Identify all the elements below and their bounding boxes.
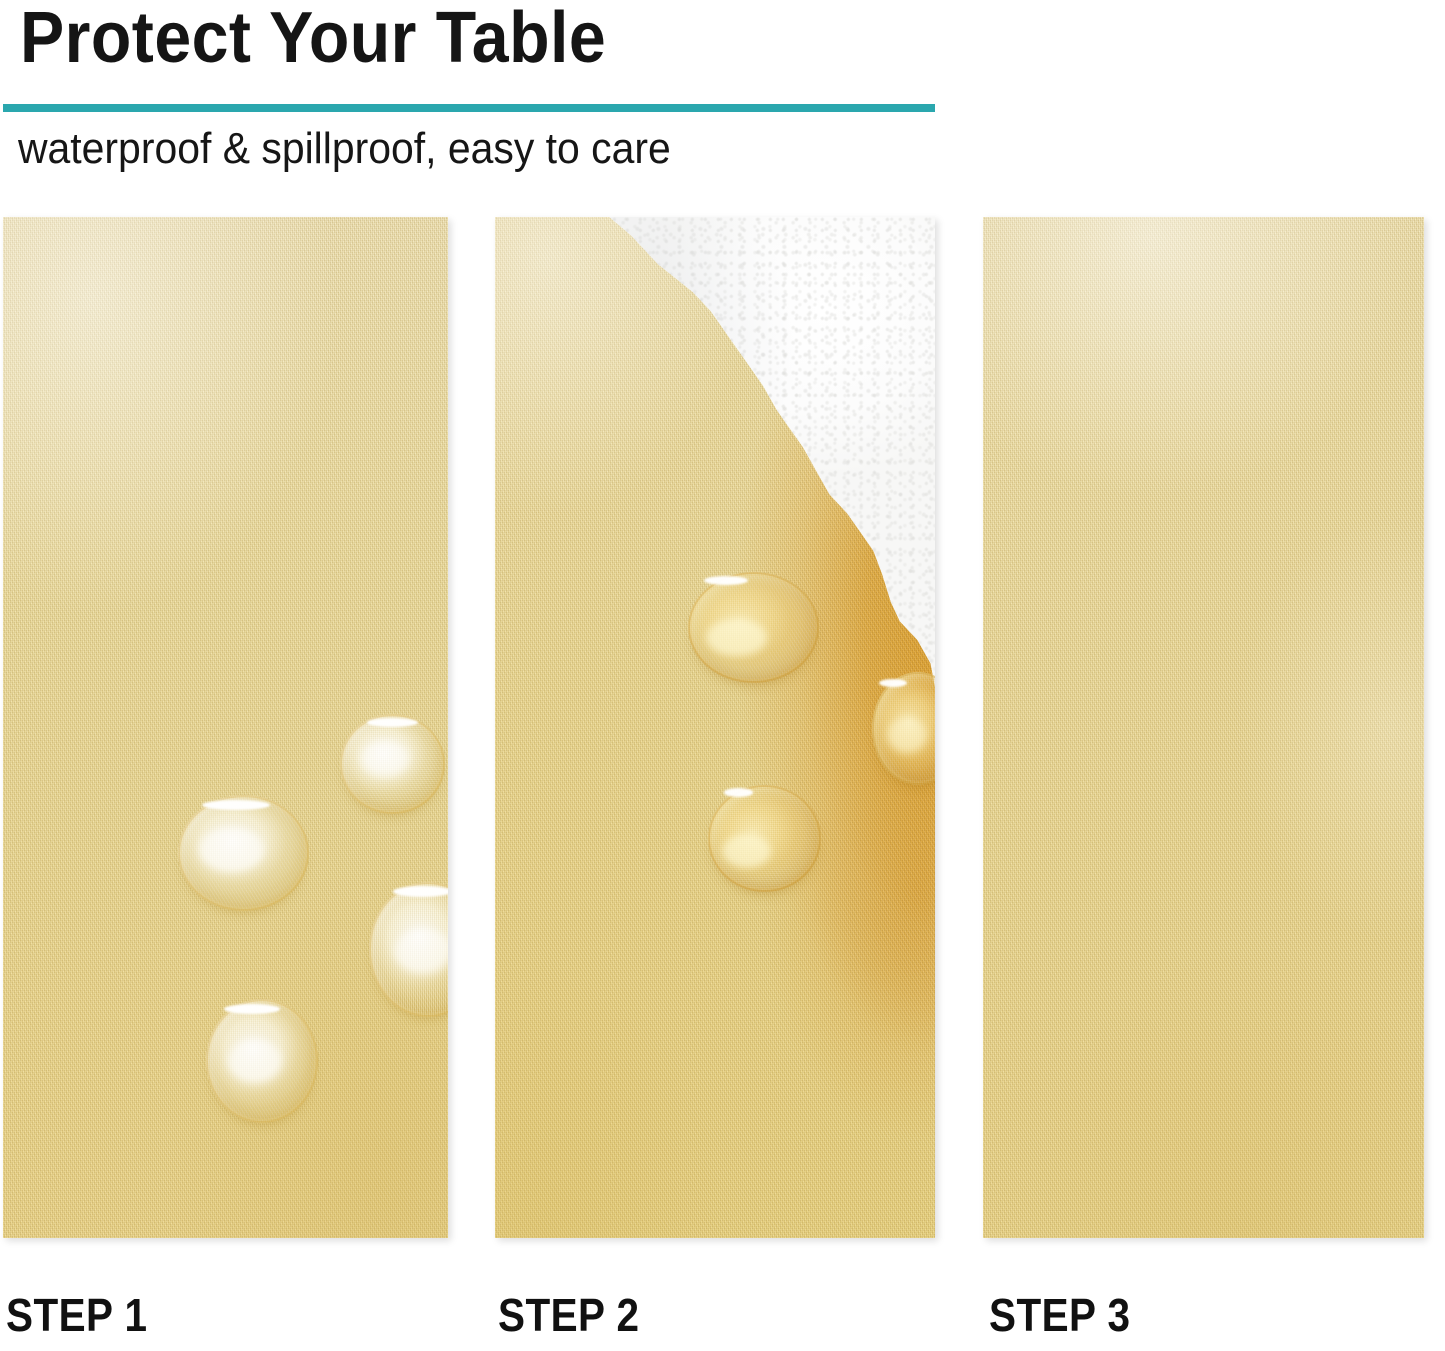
- droplet-soft-glow: [361, 740, 409, 776]
- page-title: Protect Your Table: [20, 2, 606, 74]
- droplet-specular-highlight: [224, 1004, 280, 1014]
- droplet-soft-glow: [395, 928, 448, 974]
- droplet-soft-glow: [199, 827, 265, 871]
- water-droplet: [708, 785, 821, 892]
- step-3-image-panel: [983, 217, 1424, 1238]
- header: Protect Your Table waterproof & spillpro…: [0, 0, 1445, 200]
- droplet-soft-glow: [228, 1039, 282, 1084]
- water-droplet: [688, 572, 819, 683]
- title-divider-rule: [3, 104, 935, 112]
- droplet-specular-highlight: [202, 800, 270, 810]
- water-droplet: [178, 795, 309, 911]
- droplet-specular-highlight: [724, 788, 753, 797]
- page-subtitle: waterproof & spillproof, easy to care: [18, 126, 671, 172]
- step-1-image-panel: [3, 217, 448, 1238]
- water-droplet: [340, 714, 445, 814]
- water-droplet: [206, 999, 318, 1123]
- droplet-soft-glow: [706, 619, 766, 657]
- droplet-specular-highlight: [879, 679, 907, 687]
- step-1-caption: STEP 1: [6, 1288, 147, 1342]
- step-3-caption: STEP 3: [989, 1288, 1130, 1342]
- step-2-caption: STEP 2: [498, 1288, 639, 1342]
- fabric-sheen: [983, 217, 1424, 1238]
- droplet-specular-highlight: [393, 886, 448, 897]
- droplet-specular-highlight: [367, 718, 417, 727]
- step-2-image-panel: [495, 217, 935, 1238]
